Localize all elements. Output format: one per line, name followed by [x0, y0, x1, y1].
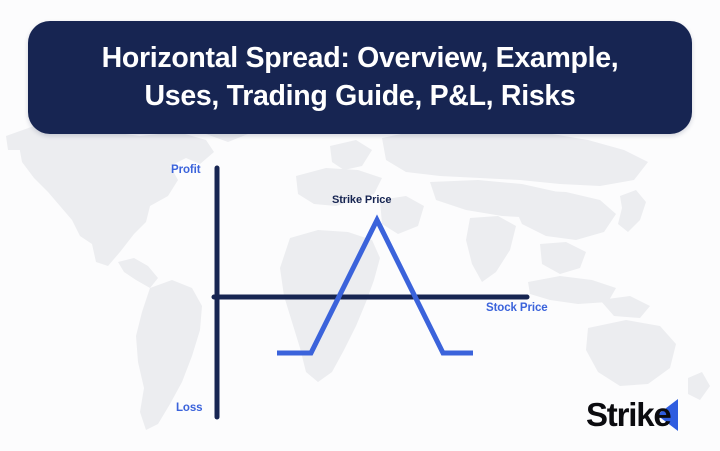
title-banner: Horizontal Spread: Overview, Example, Us…	[28, 21, 692, 134]
axis-label-profit: Profit	[171, 164, 200, 176]
infographic-canvas: Horizontal Spread: Overview, Example, Us…	[0, 0, 720, 451]
axis-label-stock-price: Stock Price	[486, 302, 548, 314]
payoff-curve	[277, 220, 473, 353]
axis-label-loss: Loss	[176, 402, 202, 414]
logo-wordmark: Strike	[586, 396, 671, 433]
strike-logo: Strike	[584, 391, 702, 439]
page-title: Horizontal Spread: Overview, Example, Us…	[82, 40, 639, 116]
annotation-strike-price: Strike Price	[332, 194, 391, 206]
